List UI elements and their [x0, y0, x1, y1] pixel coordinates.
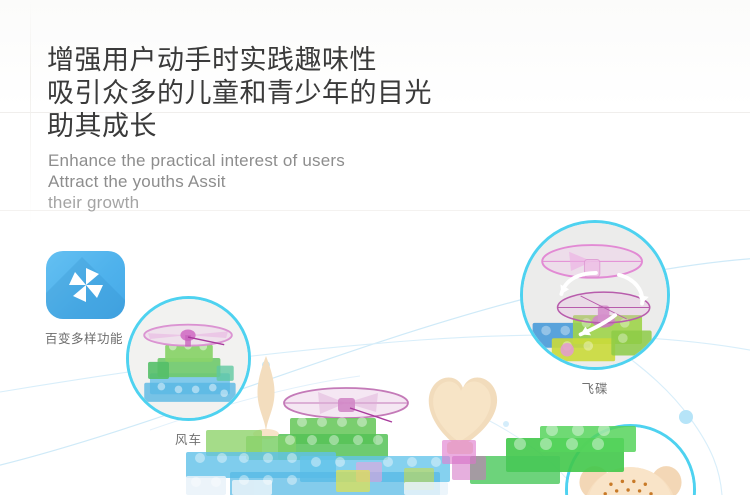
subheadline-line-3: their growth [48, 192, 518, 213]
subheadline-line-1: Enhance the practical interest of users [48, 150, 518, 171]
callout-windmill-label: 风车 [126, 429, 251, 448]
headline-line-2: 吸引众多的儿童和青少年的目光 [47, 77, 607, 110]
callout-ufo-photo [520, 220, 670, 370]
subheadline-line-2: Attract the youths Assit [48, 171, 518, 192]
callout-bear[interactable] [565, 424, 696, 495]
headline-line-1: 增强用户动手时实践趣味性 [47, 44, 607, 77]
decor-dot [262, 361, 270, 369]
decor-dot [503, 421, 509, 427]
callout-ufo[interactable]: 飞碟 [520, 220, 670, 397]
callout-windmill-photo [126, 296, 251, 421]
headline-line-3: 助其成长 [47, 110, 607, 143]
headline: 增强用户动手时实践趣味性 吸引众多的儿童和青少年的目光 助其成长 [47, 44, 607, 143]
callout-ufo-label: 飞碟 [520, 378, 670, 397]
promo-banner: 增强用户动手时实践趣味性 吸引众多的儿童和青少年的目光 助其成长 Enhance… [0, 0, 750, 495]
feature-icon-tile [46, 251, 125, 319]
callout-bear-photo [565, 424, 696, 495]
callout-windmill[interactable]: 风车 [126, 296, 251, 448]
pinwheel-icon [66, 265, 106, 305]
decor-dot [679, 410, 693, 424]
subheadline: Enhance the practical interest of users … [48, 150, 518, 213]
background-vertical-edge [30, 0, 31, 226]
